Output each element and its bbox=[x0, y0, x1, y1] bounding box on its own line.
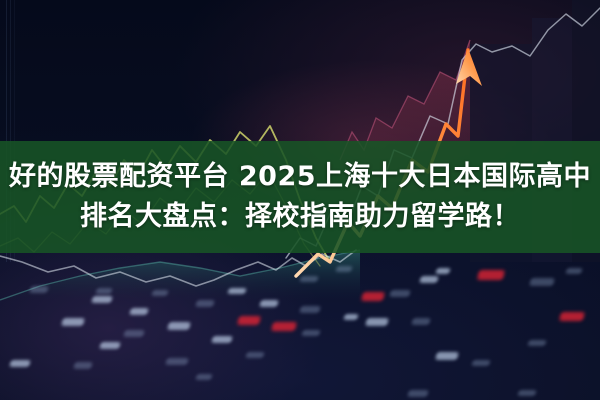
ticker-quote-blob bbox=[95, 288, 112, 294]
ticker-quote-blob bbox=[517, 390, 536, 396]
title-band: 好的股票配资平台 2025上海十大日本国际高中 排名大盘点：择校指南助力留学路！ bbox=[0, 141, 600, 253]
ticker-quote-blob bbox=[471, 360, 490, 366]
ticker-quote-blob bbox=[73, 362, 92, 369]
ticker-quote-blob bbox=[565, 268, 582, 274]
ticker-quote-blob bbox=[435, 352, 459, 360]
ticker-quote-blob bbox=[91, 296, 112, 303]
ticker-quote-blob bbox=[559, 312, 585, 321]
banner-image: 好的股票配资平台 2025上海十大日本国际高中 排名大盘点：择校指南助力留学路！ bbox=[0, 0, 600, 400]
ticker-quote-blob bbox=[299, 276, 318, 282]
ticker-quote-blob bbox=[259, 300, 278, 307]
ticker-quote-blob bbox=[195, 300, 214, 307]
ticker-quote-blob bbox=[227, 288, 246, 294]
ticker-quote-blob bbox=[129, 308, 148, 315]
ticker-quote-blob bbox=[165, 358, 188, 365]
ticker-quote-blob bbox=[335, 266, 352, 272]
ticker-quote-blob bbox=[361, 292, 385, 301]
ticker-quote-blob bbox=[195, 374, 212, 380]
ticker-quote-blob bbox=[365, 318, 389, 326]
ticker-quote-blob bbox=[211, 336, 232, 343]
ticker-quote-blob bbox=[245, 352, 264, 358]
ticker-quote-blob bbox=[237, 316, 261, 325]
ticker-quote-blob bbox=[419, 276, 438, 283]
title-line-1: 好的股票配资平台 2025上海十大日本国际高中 bbox=[9, 158, 591, 196]
ticker-quote-blob bbox=[151, 290, 168, 296]
ticker-quote-blob bbox=[61, 318, 85, 326]
title-line-2: 排名大盘点：择校指南助力留学路！ bbox=[80, 198, 520, 236]
ticker-quote-blob bbox=[9, 360, 30, 367]
ticker-quote-blob bbox=[271, 322, 297, 331]
ticker-quote-blob bbox=[99, 342, 120, 349]
ticker-quote-blob bbox=[477, 270, 505, 280]
ticker-quote-blob bbox=[407, 390, 428, 397]
ticker-quote-blob bbox=[527, 340, 546, 346]
ticker-quote-blob bbox=[123, 330, 144, 337]
ticker-quote-blob bbox=[435, 268, 450, 274]
ticker-quote-blob bbox=[301, 330, 320, 336]
ticker-quote-blob bbox=[299, 306, 320, 313]
ticker-quote-blob bbox=[529, 278, 555, 286]
ticker-quote-blob bbox=[29, 286, 48, 293]
ticker-quote-blob bbox=[411, 318, 430, 325]
ticker-quote-blob bbox=[343, 314, 358, 320]
ticker-quote-blob bbox=[389, 290, 410, 297]
ticker-quote-blob bbox=[167, 322, 191, 330]
